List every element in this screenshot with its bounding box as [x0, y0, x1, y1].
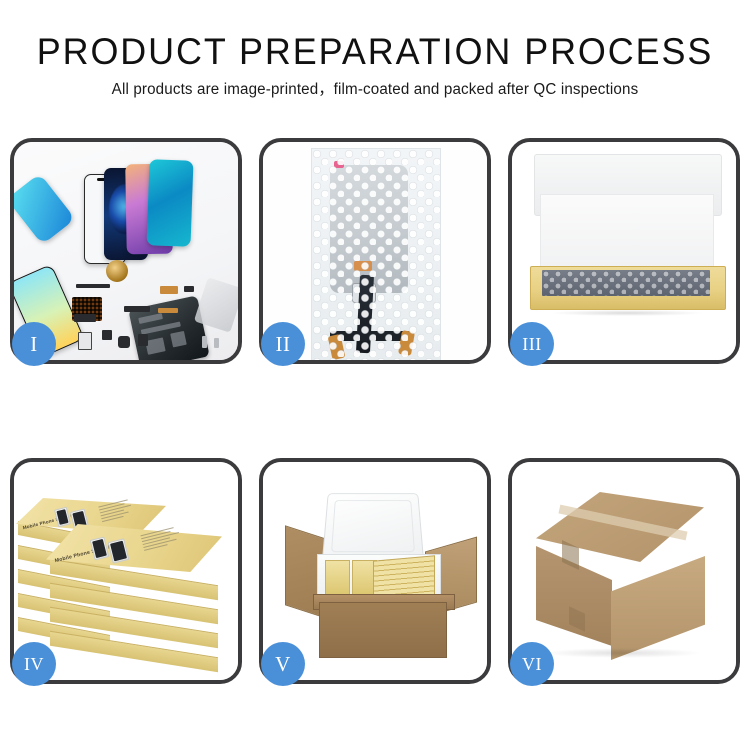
process-step-panel-1[interactable]: I: [10, 138, 242, 364]
process-step-grid: I II: [10, 138, 740, 684]
step-badge-5: V: [261, 642, 305, 686]
spare-part-coil-icon: [106, 260, 128, 282]
bubble-wrap-bag: [311, 148, 441, 360]
process-step-panel-5[interactable]: V: [259, 458, 491, 684]
bubble-texture: [312, 149, 440, 360]
foam-sheet: [540, 194, 714, 276]
sealed-carton-right-face: [611, 556, 705, 660]
step-badge-3: III: [510, 322, 554, 366]
step-badge-4: IV: [12, 642, 56, 686]
carton-body: [319, 602, 447, 658]
tray-shadow: [552, 310, 702, 316]
page-title: PRODUCT PREPARATION PROCESS: [11, 30, 739, 74]
step-numeral-2: II: [276, 332, 291, 357]
step-numeral-4: IV: [24, 654, 44, 675]
step-numeral-6: VI: [522, 654, 542, 675]
step-numeral-5: V: [275, 652, 291, 677]
page-header: PRODUCT PREPARATION PROCESS All products…: [0, 0, 750, 100]
process-step-panel-6[interactable]: VI: [508, 458, 740, 684]
process-step-panel-3[interactable]: III: [508, 138, 740, 364]
step-numeral-1: I: [30, 332, 38, 357]
step-badge-1: I: [12, 322, 56, 366]
spare-parts-cluster: [72, 280, 232, 356]
process-step-panel-4[interactable]: Mobile Phone Spare Parts: [10, 458, 242, 684]
step-numeral-3: III: [522, 334, 541, 355]
phone-teal-display-icon: [147, 159, 194, 246]
carton-shadow: [542, 648, 702, 658]
step-badge-2: II: [261, 322, 305, 366]
foam-box-lid: [322, 493, 424, 561]
phone-screen-protector-icon: [14, 173, 75, 245]
page-subtitle: All products are image-printed，film-coat…: [6, 80, 745, 100]
grey-bubble-wrapped-items: [542, 270, 710, 296]
step-badge-6: VI: [510, 642, 554, 686]
process-step-panel-2[interactable]: II: [259, 138, 491, 364]
